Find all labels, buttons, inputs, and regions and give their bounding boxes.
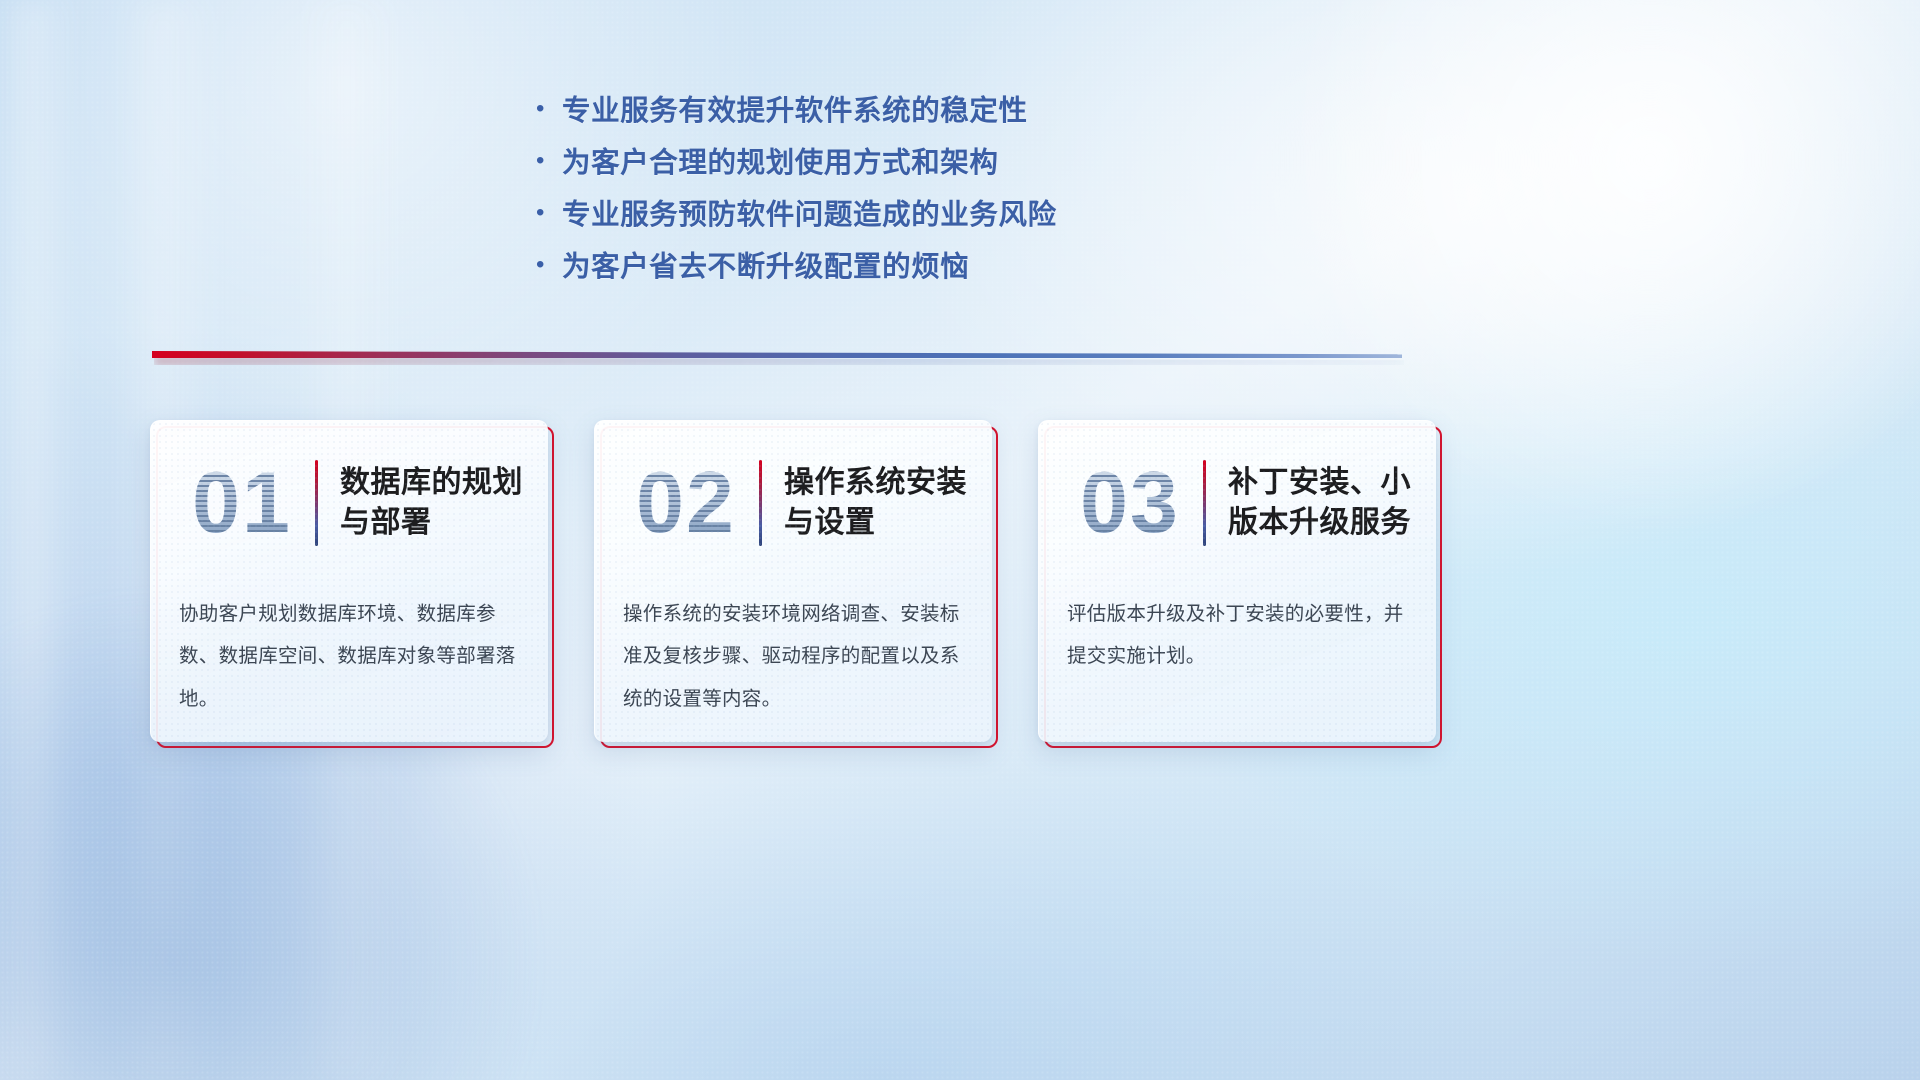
bullet-list: • 专业服务有效提升软件系统的稳定性 • 为客户合理的规划使用方式和架构 • 专… xyxy=(536,88,1436,296)
card-header: 03 补丁安装、小版本升级服务 xyxy=(1039,447,1436,559)
divider-bar xyxy=(152,351,1402,358)
bullet-item: • 专业服务有效提升软件系统的稳定性 xyxy=(536,88,1436,140)
card-divider-rule xyxy=(1203,460,1206,546)
divider-shadow xyxy=(154,357,1404,365)
card-description: 评估版本升级及补丁安装的必要性，并提交实施计划。 xyxy=(1067,593,1410,678)
card-surface: 01 数据库的规划与部署 协助客户规划数据库环境、数据库参数、数据库空间、数据库… xyxy=(150,420,548,742)
card-description: 操作系统的安装环境网络调查、安装标准及复核步骤、驱动程序的配置以及系统的设置等内… xyxy=(623,593,966,720)
card-surface: 02 操作系统安装与设置 操作系统的安装环境网络调查、安装标准及复核步骤、驱动程… xyxy=(594,420,992,742)
gradient-divider xyxy=(152,345,1402,367)
bullet-text: 为客户省去不断升级配置的烦恼 xyxy=(562,244,969,285)
bullet-text: 专业服务有效提升软件系统的稳定性 xyxy=(562,88,1028,129)
bullet-dot-icon: • xyxy=(536,149,562,173)
bullet-item: • 为客户合理的规划使用方式和架构 xyxy=(536,140,1436,192)
card-title: 补丁安装、小版本升级服务 xyxy=(1228,463,1414,543)
bullet-dot-icon: • xyxy=(536,201,562,225)
card-number: 02 xyxy=(621,460,751,546)
card-title: 数据库的规划与部署 xyxy=(340,463,526,543)
card-header: 01 数据库的规划与部署 xyxy=(151,447,548,559)
card-divider-rule xyxy=(315,460,318,546)
card-surface: 03 补丁安装、小版本升级服务 评估版本升级及补丁安装的必要性，并提交实施计划。 xyxy=(1038,420,1436,742)
slide-canvas: • 专业服务有效提升软件系统的稳定性 • 为客户合理的规划使用方式和架构 • 专… xyxy=(0,0,1920,1080)
bullet-dot-icon: • xyxy=(536,253,562,277)
card-number: 01 xyxy=(177,460,307,546)
card-header: 02 操作系统安装与设置 xyxy=(595,447,992,559)
bullet-item: • 为客户省去不断升级配置的烦恼 xyxy=(536,244,1436,296)
bullet-item: • 专业服务预防软件问题造成的业务风险 xyxy=(536,192,1436,244)
card-number: 03 xyxy=(1065,460,1195,546)
card-row: 01 数据库的规划与部署 协助客户规划数据库环境、数据库参数、数据库空间、数据库… xyxy=(150,420,1436,742)
bullet-dot-icon: • xyxy=(536,97,562,121)
card-title: 操作系统安装与设置 xyxy=(784,463,970,543)
service-card[interactable]: 01 数据库的规划与部署 协助客户规划数据库环境、数据库参数、数据库空间、数据库… xyxy=(150,420,548,742)
bullet-text: 为客户合理的规划使用方式和架构 xyxy=(562,140,999,181)
bullet-text: 专业服务预防软件问题造成的业务风险 xyxy=(562,192,1057,233)
card-divider-rule xyxy=(759,460,762,546)
card-description: 协助客户规划数据库环境、数据库参数、数据库空间、数据库对象等部署落地。 xyxy=(179,593,522,720)
service-card[interactable]: 03 补丁安装、小版本升级服务 评估版本升级及补丁安装的必要性，并提交实施计划。 xyxy=(1038,420,1436,742)
service-card[interactable]: 02 操作系统安装与设置 操作系统的安装环境网络调查、安装标准及复核步骤、驱动程… xyxy=(594,420,992,742)
